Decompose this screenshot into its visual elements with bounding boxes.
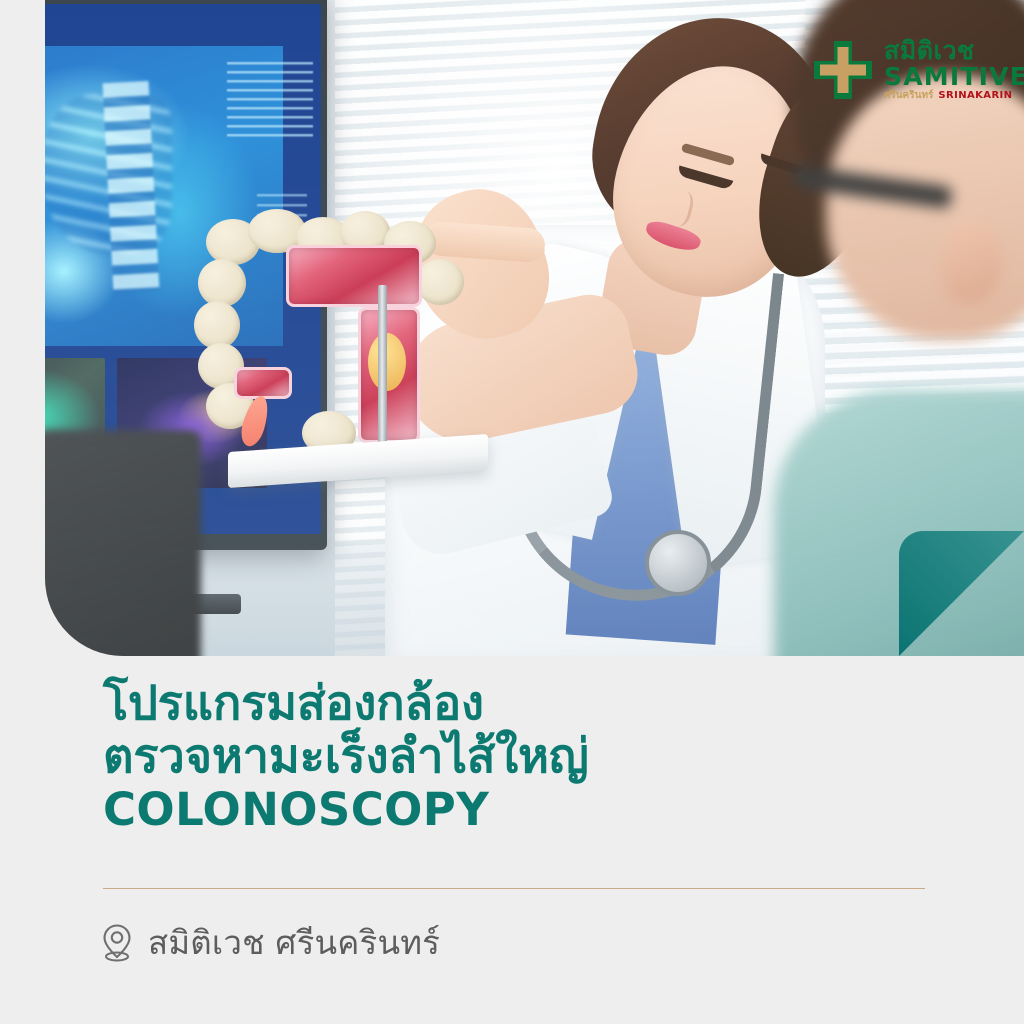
logo-thai-name: สมิติเวช: [884, 38, 1024, 63]
scan-metadata-text: [227, 62, 313, 142]
colon-segment: [416, 259, 464, 305]
samitivej-logo: สมิติเวช SAMITIVEJ ศรีนครินทร์ SRINAKARI…: [812, 38, 1024, 101]
office-chair: [45, 430, 201, 656]
logo-wordmark: สมิติเวช SAMITIVEJ ศรีนครินทร์ SRINAKARI…: [884, 38, 1024, 101]
patient-ear: [942, 218, 1002, 304]
title-line-2: ตรวจหามะเร็งลำไส้ใหญ่: [103, 731, 963, 784]
footer-location-text: สมิติเวช ศรีนครินทร์: [148, 916, 440, 969]
title-line-1: โปรแกรมส่องกล้อง: [103, 678, 963, 731]
hospital-cross-icon: [812, 39, 874, 101]
logo-english-name: SAMITIVEJ: [884, 64, 1024, 89]
footer-location: สมิติเวช ศรีนครินทร์: [100, 916, 440, 969]
logo-branch-thai: ศรีนครินทร์: [884, 91, 933, 101]
model-support-rod: [378, 285, 387, 453]
colon-anatomical-model: [200, 215, 500, 505]
horizontal-divider: [103, 888, 925, 889]
colon-segment: [194, 301, 240, 349]
logo-branch-english: SRINAKARIN: [938, 91, 1012, 101]
tumor-model: [368, 333, 406, 391]
colon-cross-section-small: [234, 367, 292, 399]
poster-root: สมิติเวช SAMITIVEJ ศรีนครินทร์ SRINAKARI…: [0, 0, 1024, 1024]
stethoscope-bell: [645, 530, 711, 596]
logo-branch: ศรีนครินทร์ SRINAKARIN: [884, 91, 1024, 101]
colon-cross-section-upper: [286, 245, 422, 307]
title-line-3: COLONOSCOPY: [103, 785, 963, 835]
colon-segment: [198, 259, 246, 307]
location-pin-icon: [100, 923, 134, 963]
page-title: โปรแกรมส่องกล้อง ตรวจหามะเร็งลำไส้ใหญ่ C…: [103, 678, 963, 836]
model-base-plate: [228, 434, 488, 488]
